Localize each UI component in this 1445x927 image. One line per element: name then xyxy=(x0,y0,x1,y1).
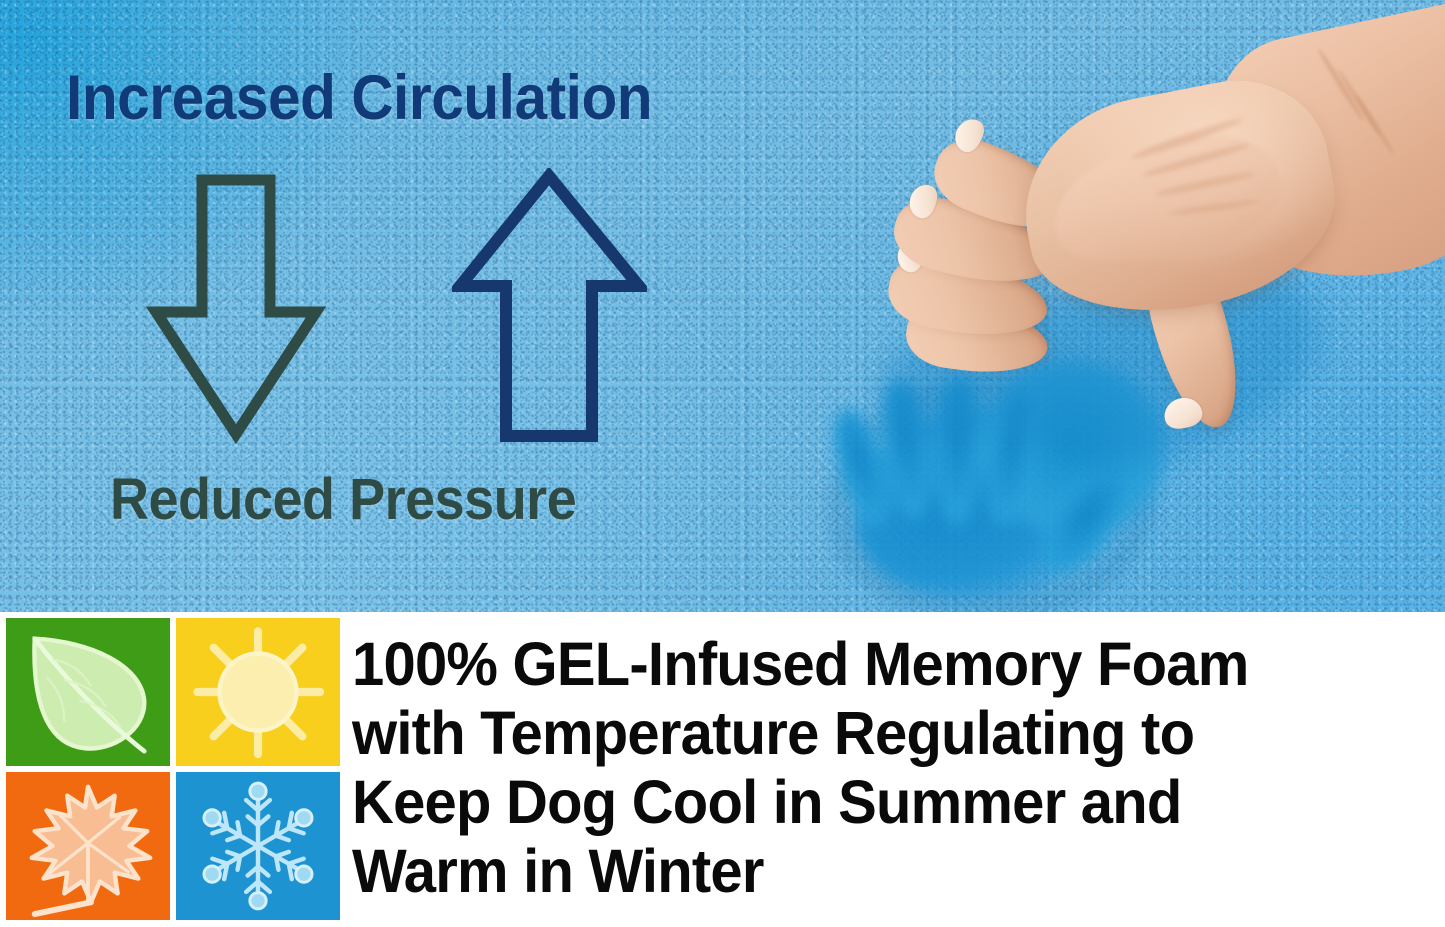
headline-increased-circulation: Increased Circulation xyxy=(66,62,652,134)
promo-line-3: Keep Dog Cool in Summer and xyxy=(352,768,1390,837)
feature-band: 100% GEL-Infused Memory Foam with Temper… xyxy=(0,612,1445,927)
maple-leaf-icon xyxy=(6,772,170,920)
arrow-down-icon xyxy=(146,172,326,452)
promo-line-2: with Temperature Regulating to xyxy=(352,699,1390,768)
leaf-icon xyxy=(6,618,170,766)
headline-reduced-pressure: Reduced Pressure xyxy=(110,466,576,533)
tile-winter xyxy=(176,772,340,920)
sun-icon xyxy=(176,618,340,766)
snowflake-icon xyxy=(176,772,340,920)
product-feature-poster: Increased Circulation Reduced Pressure xyxy=(0,0,1445,927)
gel-memory-foam-photo: Increased Circulation Reduced Pressure xyxy=(0,0,1445,612)
tile-spring xyxy=(6,618,170,766)
four-seasons-icon-grid xyxy=(6,618,340,920)
tile-autumn xyxy=(6,772,170,920)
promo-line-1: 100% GEL-Infused Memory Foam xyxy=(352,630,1390,699)
promo-copy: 100% GEL-Infused Memory Foam with Temper… xyxy=(352,630,1390,906)
promo-line-4: Warm in Winter xyxy=(352,837,1390,906)
arrow-up-icon xyxy=(452,168,647,451)
tile-summer xyxy=(176,618,340,766)
hand-photo xyxy=(828,30,1445,510)
